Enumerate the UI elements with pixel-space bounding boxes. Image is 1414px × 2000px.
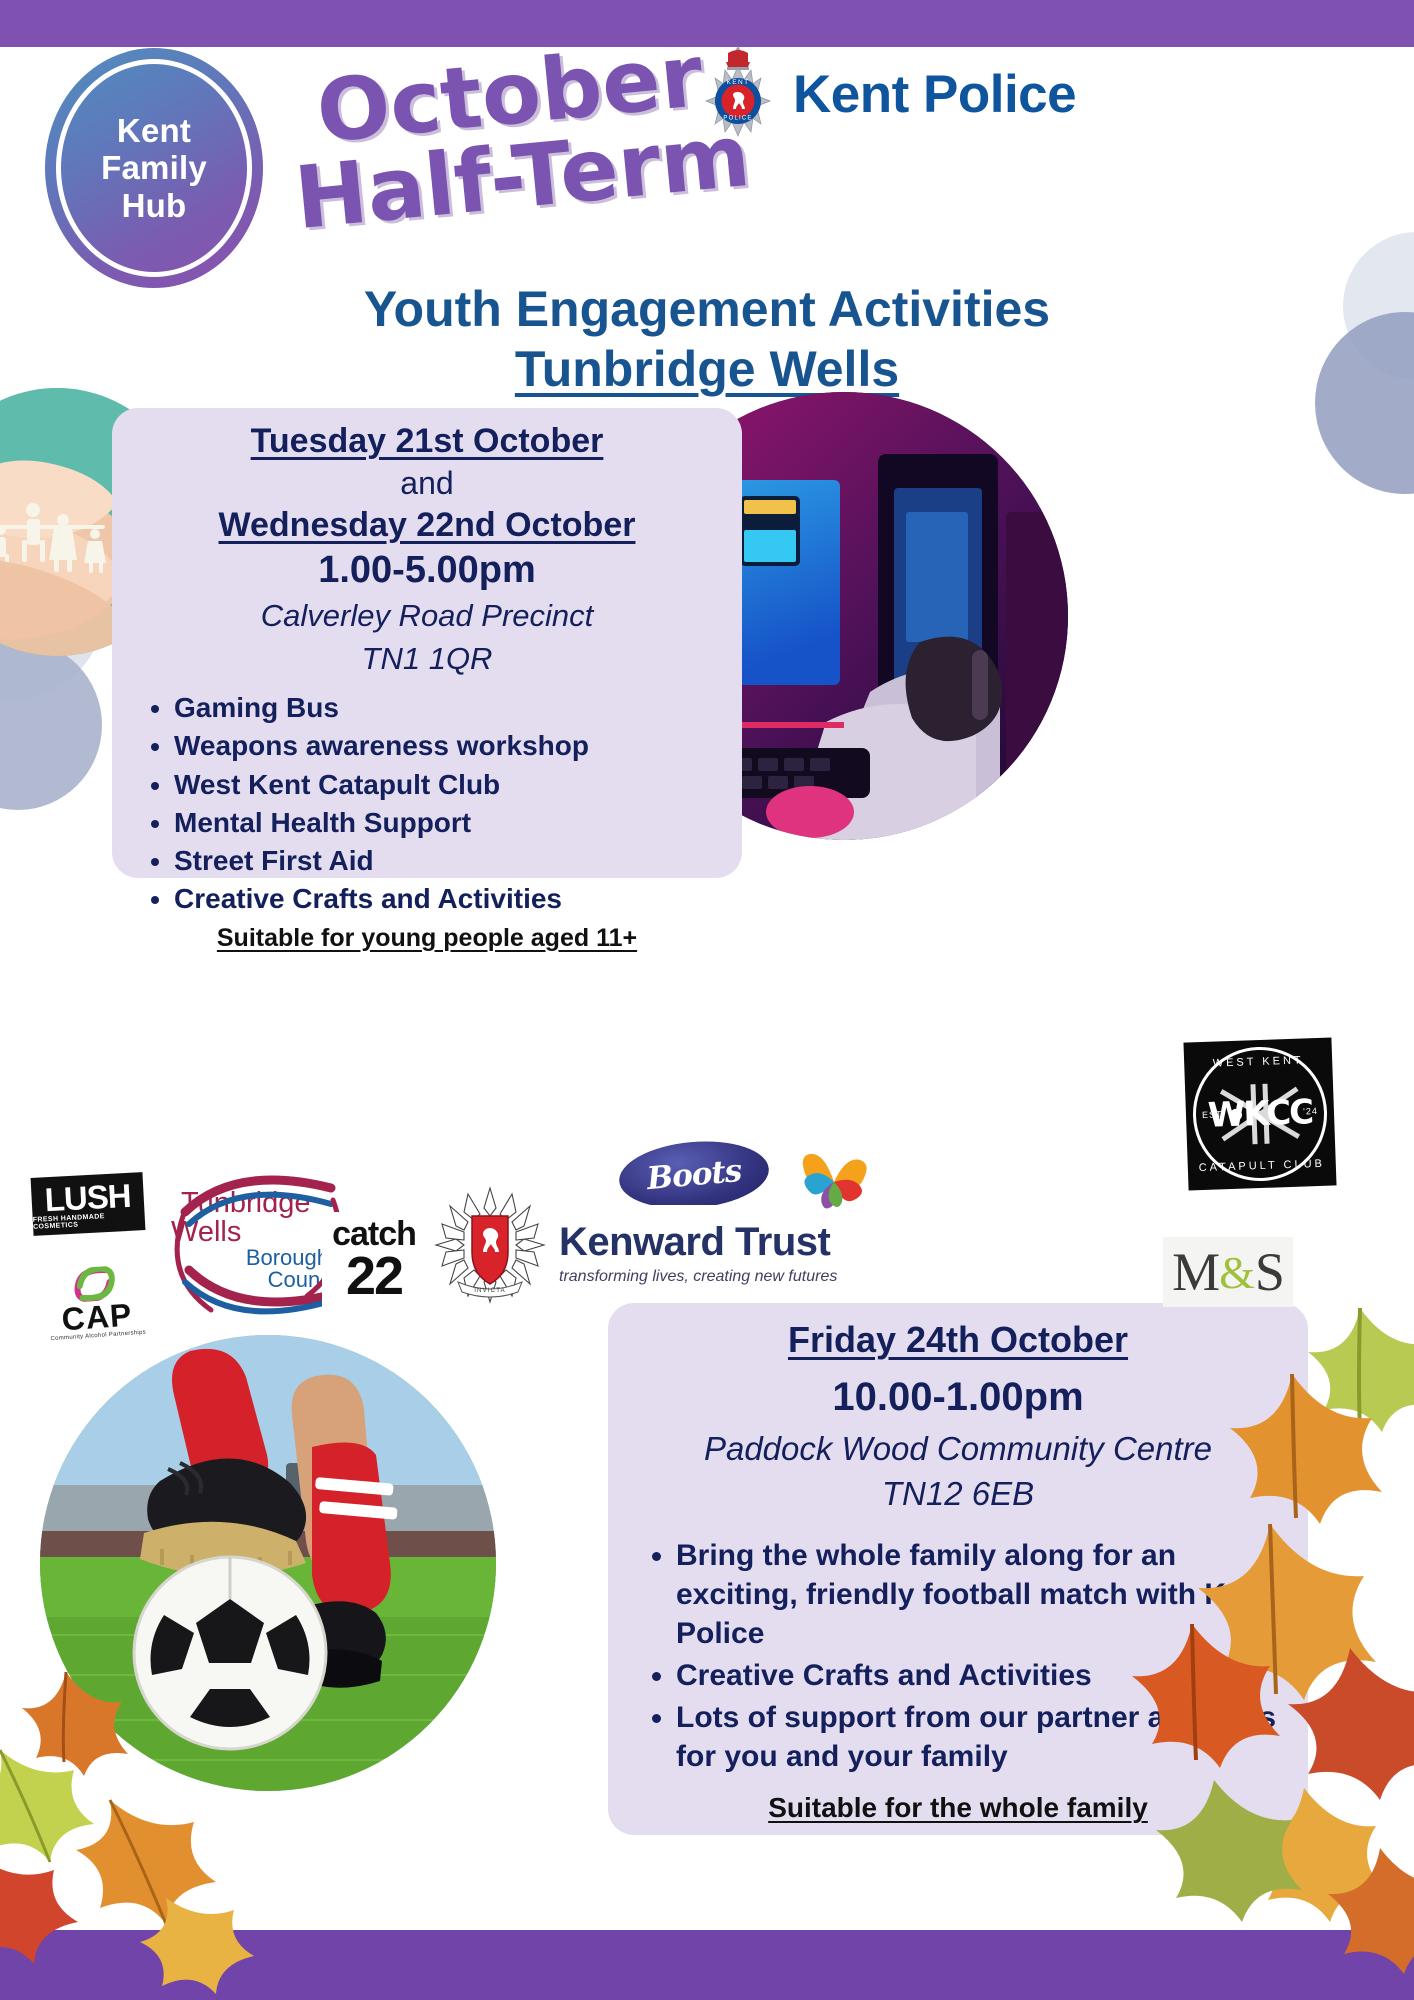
partner-logo-cap: CAP Community Alcohol Partnerships bbox=[33, 1254, 159, 1352]
partner-logo-west-kent-catapult-club: WEST KENT EST '24 WKCC CATAPULT CLUB bbox=[1183, 1037, 1336, 1190]
boots-name: Boots bbox=[645, 1153, 742, 1197]
event1-conjunction: and bbox=[134, 465, 720, 502]
event1-postcode: TN1 1QR bbox=[134, 641, 720, 678]
kent-police-wordmark: Kent Police bbox=[793, 64, 1076, 125]
poster: Kent Family Hub October Half-Term bbox=[0, 0, 1414, 2000]
page-location: Tunbridge Wells bbox=[0, 340, 1414, 398]
partner-logo-kenward-trust: Kenward Trust transforming lives, creati… bbox=[559, 1205, 859, 1303]
wkcc-circle: WEST KENT EST '24 WKCC CATAPULT CLUB bbox=[1191, 1045, 1330, 1184]
kent-police-badge-icon: KENT POLICE bbox=[697, 42, 779, 146]
svg-text:POLICE: POLICE bbox=[723, 116, 752, 122]
decorative-circle-blue-left bbox=[0, 640, 102, 810]
boots-disc: Boots bbox=[616, 1136, 771, 1215]
kenward-name: Kenward Trust bbox=[559, 1222, 830, 1262]
lush-name: LUSH bbox=[44, 1178, 131, 1215]
event1-date-1: Tuesday 21st October bbox=[134, 422, 720, 461]
hub-logo-line-3: Hub bbox=[122, 188, 187, 224]
list-item: Mental Health Support bbox=[174, 804, 720, 841]
hub-logo-line-2: Family bbox=[101, 150, 207, 186]
kfrs-motto: INVICTA bbox=[474, 1288, 506, 1294]
svg-text:KENT: KENT bbox=[727, 79, 750, 86]
list-item: Weapons awareness workshop bbox=[174, 727, 720, 764]
kent-police-lockup: KENT POLICE Kent Police bbox=[697, 42, 1076, 146]
event1-date-2: Wednesday 22nd October bbox=[134, 506, 720, 545]
partner-logo-lush: LUSH FRESH HANDMADE COSMETICS bbox=[31, 1172, 146, 1236]
catch22-line-2: 22 bbox=[346, 1251, 402, 1302]
page-subtitle: Youth Engagement Activities bbox=[0, 282, 1414, 336]
list-item: Gaming Bus bbox=[174, 689, 720, 726]
list-item: West Kent Catapult Club bbox=[174, 766, 720, 803]
event1-suitability-note: Suitable for young people aged 11+ bbox=[134, 924, 720, 953]
event-panel-tuesday-wednesday: Tuesday 21st October and Wednesday 22nd … bbox=[112, 408, 742, 878]
event1-venue: Calverley Road Precinct bbox=[134, 598, 720, 635]
list-item: Creative Crafts and Activities bbox=[174, 880, 720, 917]
cap-swirl-icon bbox=[63, 1265, 127, 1303]
cap-name: CAP bbox=[61, 1299, 134, 1336]
kent-family-hub-logo: Kent Family Hub bbox=[45, 48, 263, 288]
autumn-leaves-bottom-left bbox=[0, 1660, 300, 2000]
kenward-butterfly-icon bbox=[800, 1150, 868, 1212]
kent-family-hub-logo-ring: Kent Family Hub bbox=[56, 59, 252, 277]
event1-activity-list: Gaming Bus Weapons awareness workshop We… bbox=[134, 689, 720, 917]
event1-time: 1.00-5.00pm bbox=[134, 549, 720, 592]
kenward-tagline: transforming lives, creating new futures bbox=[559, 1268, 837, 1286]
partner-logo-kent-fire-and-rescue: INVICTA bbox=[434, 1186, 546, 1304]
list-item: Street First Aid bbox=[174, 842, 720, 879]
partner-logo-catch22: catch 22 bbox=[322, 1212, 426, 1308]
hub-logo-line-1: Kent bbox=[117, 113, 191, 149]
autumn-leaves-bottom-right bbox=[1060, 1288, 1414, 2000]
